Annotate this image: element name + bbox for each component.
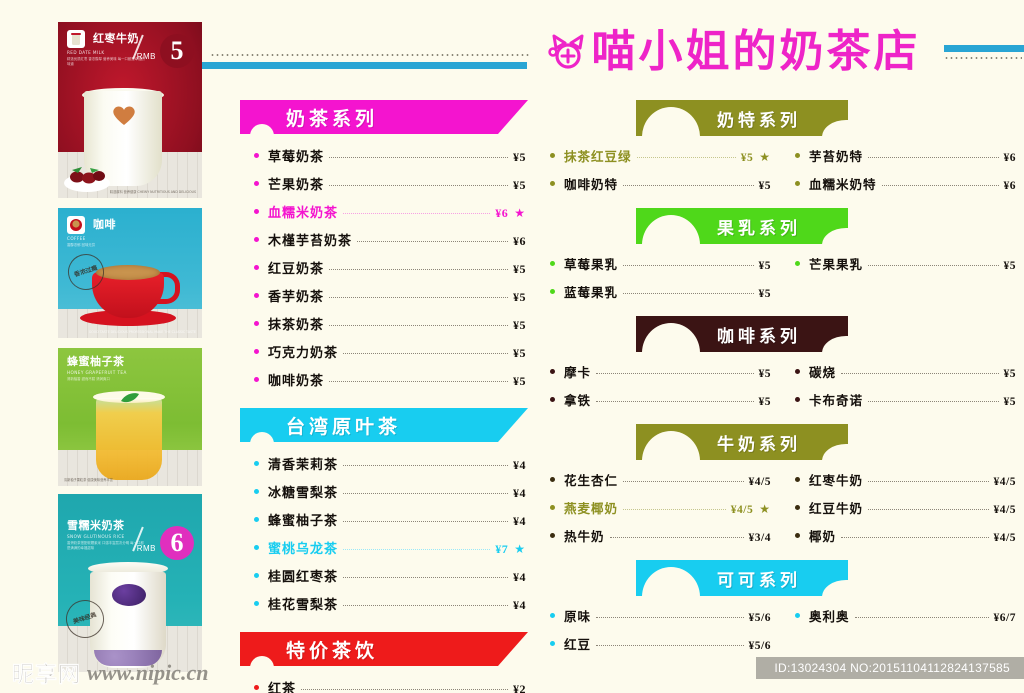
menu-item[interactable]: 巧克力奶茶¥5 (254, 342, 526, 361)
item-name: 椰奶 (809, 526, 836, 545)
item-name: 木槿芋苔奶茶 (268, 230, 352, 249)
section-title: 咖啡系列 (636, 316, 848, 352)
item-name: 燕麦椰奶 (564, 498, 618, 517)
watermark-url: www.nipic.cn (87, 660, 208, 686)
leader-dots (329, 297, 508, 298)
menu-item[interactable]: 红豆¥5/6 (550, 634, 771, 653)
menu-item[interactable]: 蜜桃乌龙茶¥7★ (254, 538, 526, 557)
section-title: 牛奶系列 (636, 424, 848, 460)
menu-section-cocoa: 可可系列 原味¥5/6 奥利奥¥6/7 红豆¥5/6 (548, 560, 1018, 664)
item-price: ¥4/5 (749, 476, 771, 488)
menu-column-right: 奶特系列 抹茶红豆绿¥5★ 芋苔奶特¥6 咖啡奶特¥5 血糯米奶特¥6 果乳系列… (548, 100, 1018, 668)
item-price: ¥4 (513, 486, 526, 501)
item-price: ¥5 (741, 152, 754, 164)
item-price: ¥5 (513, 178, 526, 193)
leader-dots (610, 537, 744, 538)
leader-dots (329, 185, 508, 186)
menu-item[interactable]: 血糯米奶特¥6 (795, 174, 1016, 193)
promo-name-en: SNOW GLUTINOUS RICE (67, 534, 147, 539)
item-price: ¥6 (495, 206, 508, 221)
bullet-icon (550, 153, 555, 158)
item-name: 咖啡奶特 (564, 174, 618, 193)
asset-id-bar: ID:13024304 NO:20151104112824137585 (756, 657, 1024, 679)
item-price: ¥4/5 (994, 476, 1016, 488)
menu-item[interactable]: 热牛奶¥3/4 (550, 526, 771, 545)
section-banner: 果乳系列 (636, 208, 848, 244)
section-items: 抹茶红豆绿¥5★ 芋苔奶特¥6 咖啡奶特¥5 血糯米奶特¥6 (548, 136, 1018, 204)
bullet-icon (254, 153, 259, 158)
menu-item[interactable]: 香芋奶茶¥5 (254, 286, 526, 305)
bullet-icon (795, 477, 800, 482)
menu-poster: 喵小姐的奶茶店 红枣牛奶 RED DATE MILK 精选优质红枣 香浓醇厚 营… (0, 0, 1024, 693)
menu-item[interactable]: 红茶¥2 (254, 678, 526, 693)
leader-dots (596, 617, 744, 618)
leader-dots (868, 265, 998, 266)
item-price: ¥6/7 (994, 612, 1016, 624)
bullet-icon (254, 321, 259, 326)
item-name: 拿铁 (564, 390, 591, 409)
section-items: 清香茉莉茶¥4 冰糖雪梨茶¥4 蜂蜜柚子茶¥4 蜜桃乌龙茶¥7★ 桂圆红枣茶¥4… (240, 444, 532, 626)
bullet-icon (795, 533, 800, 538)
menu-item[interactable]: 椰奶¥4/5 (795, 526, 1016, 545)
promo-price-badge: 5 (160, 34, 194, 68)
cup-body (96, 398, 162, 480)
item-price: ¥5 (1004, 368, 1017, 380)
leader-dots (868, 509, 989, 510)
leader-dots (343, 353, 508, 354)
boba-topping (112, 584, 146, 606)
section-items: 草莓果乳¥5 芒果果乳¥5 蓝莓果乳¥5 (548, 244, 1018, 312)
menu-item[interactable]: 清香茉莉茶¥4 (254, 454, 526, 473)
item-name: 芋苔奶特 (809, 146, 863, 165)
item-name: 摩卡 (564, 362, 591, 381)
bullet-icon (254, 601, 259, 606)
item-price: ¥5 (513, 346, 526, 361)
leader-dots (343, 549, 490, 550)
menu-item[interactable]: 咖啡奶茶¥5 (254, 370, 526, 389)
red-dates (68, 164, 108, 188)
bullet-icon (550, 533, 555, 538)
menu-item[interactable]: 蜂蜜柚子茶¥4 (254, 510, 526, 529)
bullet-icon (254, 209, 259, 214)
item-price: ¥4/5 (731, 504, 753, 516)
bullet-icon (550, 397, 555, 402)
leader-dots (623, 509, 726, 510)
bullet-icon (550, 261, 555, 266)
section-items: 摩卡¥5 碳烧¥5 拿铁¥5 卡布奇诺¥5 (548, 352, 1018, 420)
bullet-icon (254, 181, 259, 186)
bullet-icon (795, 613, 800, 618)
section-banner: 牛奶系列 (636, 424, 848, 460)
item-name: 芒果奶茶 (268, 174, 324, 193)
bullet-icon (254, 573, 259, 578)
promo-name-en: HONEY GRAPEFRUIT TEA (67, 370, 127, 375)
bullet-icon (550, 289, 555, 294)
menu-item[interactable]: 桂花雪梨茶¥4 (254, 594, 526, 613)
leader-dots (841, 373, 998, 374)
bullet-icon (254, 265, 259, 270)
promo-label: 蜂蜜柚子茶 HONEY GRAPEFRUIT TEA 清新柚香 甜而不腻 清润爽… (67, 356, 127, 382)
menu-item[interactable]: 抹茶红豆绿¥5★ (550, 146, 771, 165)
bullet-icon (550, 641, 555, 646)
bullet-icon (254, 545, 259, 550)
item-name: 血糯米奶特 (809, 174, 877, 193)
coffee-cup-badge-icon (67, 216, 85, 234)
leader-dots (343, 465, 508, 466)
menu-item[interactable]: 蓝莓果乳¥5 (550, 282, 771, 301)
bullet-icon (795, 153, 800, 158)
item-price: ¥4/5 (994, 504, 1016, 516)
leader-dots (329, 381, 508, 382)
star-icon: ★ (514, 206, 526, 220)
section-banner: 可可系列 (636, 560, 848, 596)
item-price: ¥4/5 (994, 532, 1016, 544)
bullet-icon (254, 377, 259, 382)
item-price: ¥5 (1004, 396, 1017, 408)
star-icon: ★ (514, 542, 526, 556)
menu-item[interactable]: 燕麦椰奶¥4/5★ (550, 498, 771, 517)
bullet-icon (254, 489, 259, 494)
site-watermark: 昵享网 www.nipic.cn (12, 657, 208, 689)
leader-dots (343, 605, 508, 606)
menu-column-left: 奶茶系列 草莓奶茶¥5 芒果奶茶¥5 血糯米奶茶¥6★ 木槿芋苔奶茶¥6 红豆奶… (240, 100, 532, 693)
section-banner: 特价茶饮 (240, 632, 528, 668)
item-name: 碳烧 (809, 362, 836, 381)
item-name: 桂花雪梨茶 (268, 594, 338, 613)
item-name: 红豆 (564, 634, 591, 653)
section-banner: 咖啡系列 (636, 316, 848, 352)
item-name: 芒果果乳 (809, 254, 863, 273)
promo-label: 咖啡 COFFEE 香醇浓郁 回味无穷 (67, 216, 116, 248)
menu-item[interactable]: 草莓果乳¥5 (550, 254, 771, 273)
menu-item[interactable]: 拿铁¥5 (550, 390, 771, 409)
leader-dots (343, 577, 508, 578)
bullet-icon (795, 181, 800, 186)
promo-card-coffee: 咖啡 COFFEE 香醇浓郁 回味无穷 香浓过瘾 GOOD TASTE DELI… (58, 208, 202, 338)
leader-dots (329, 325, 508, 326)
promo-description: 香醇浓郁 回味无穷 (67, 243, 116, 248)
menu-section-taiwan-tea: 台湾原叶茶 清香茉莉茶¥4 冰糖雪梨茶¥4 蜂蜜柚子茶¥4 蜜桃乌龙茶¥7★ 桂… (240, 408, 532, 626)
item-price: ¥6 (1004, 152, 1017, 164)
item-price: ¥5 (1004, 260, 1017, 272)
menu-item[interactable]: 原味¥5/6 (550, 606, 771, 625)
bullet-icon (795, 369, 800, 374)
item-price: ¥5 (513, 290, 526, 305)
section-banner: 奶茶系列 (240, 100, 528, 136)
item-name: 草莓奶茶 (268, 146, 324, 165)
menu-item[interactable]: 芒果奶茶¥5 (254, 174, 526, 193)
bullet-icon (550, 369, 555, 374)
bullet-icon (795, 261, 800, 266)
leader-dots (343, 213, 490, 214)
item-price: ¥5 (759, 260, 772, 272)
leader-dots (868, 157, 998, 158)
header-dotted-rule-left (210, 54, 530, 56)
cup-badge-icon (67, 30, 85, 48)
item-name: 热牛奶 (564, 526, 605, 545)
section-title: 台湾原叶茶 (286, 408, 401, 442)
promo-name-en: COFFEE (67, 236, 116, 241)
leader-dots (596, 401, 753, 402)
promo-card-red-date-milk: 红枣牛奶 RED DATE MILK 精选优质红枣 香浓醇厚 营养美味 每一口都… (58, 22, 202, 198)
section-title: 奶茶系列 (286, 100, 378, 134)
bullet-icon (550, 505, 555, 510)
section-title: 可可系列 (636, 560, 848, 596)
leader-dots (329, 157, 508, 158)
star-icon: ★ (759, 150, 771, 164)
item-name: 红枣牛奶 (809, 470, 863, 489)
promo-price-badge: 6 (160, 526, 194, 560)
item-price: ¥4 (513, 598, 526, 613)
promo-footnote: 精选原料 营养健康 CHEWY NUTRITIOUS AND DELICIOUS (110, 190, 196, 194)
item-name: 红豆牛奶 (809, 498, 863, 517)
bullet-icon (550, 181, 555, 186)
menu-item[interactable]: 咖啡奶特¥5 (550, 174, 771, 193)
item-name: 花生杏仁 (564, 470, 618, 489)
section-title: 特价茶饮 (286, 632, 378, 666)
section-banner: 奶特系列 (636, 100, 848, 136)
item-name: 原味 (564, 606, 591, 625)
item-name: 香芋奶茶 (268, 286, 324, 305)
promo-name: 雪糯米奶茶 (67, 520, 147, 532)
shop-title: 喵小姐的奶茶店 (534, 22, 934, 82)
promo-currency-label: RMB (137, 544, 156, 553)
mint-leaf-icon (120, 389, 140, 408)
promo-description: 精选优质红枣 香浓醇厚 营养美味 每一口都是幸福的味道 (67, 57, 147, 67)
item-price: ¥5 (759, 180, 772, 192)
leader-dots (841, 537, 989, 538)
menu-item[interactable]: 摩卡¥5 (550, 362, 771, 381)
menu-item[interactable]: 卡布奇诺¥5 (795, 390, 1016, 409)
bullet-icon (254, 349, 259, 354)
item-name: 清香茉莉茶 (268, 454, 338, 473)
menu-section-milk-tea: 奶茶系列 草莓奶茶¥5 芒果奶茶¥5 血糯米奶茶¥6★ 木槿芋苔奶茶¥6 红豆奶… (240, 100, 532, 402)
section-items: 草莓奶茶¥5 芒果奶茶¥5 血糯米奶茶¥6★ 木槿芋苔奶茶¥6 红豆奶茶¥5 香… (240, 136, 532, 402)
bullet-icon (795, 397, 800, 402)
menu-item[interactable]: 血糯米奶茶¥6★ (254, 202, 526, 221)
item-price: ¥7 (495, 542, 508, 557)
leader-dots (596, 645, 744, 646)
item-name: 桂圆红枣茶 (268, 566, 338, 585)
item-name: 奥利奥 (809, 606, 850, 625)
promo-currency-label: RMB (137, 52, 156, 61)
menu-item[interactable]: 桂圆红枣茶¥4 (254, 566, 526, 585)
watermark-site-name: 昵享网 (12, 657, 81, 689)
item-price: ¥5 (759, 368, 772, 380)
item-price: ¥2 (513, 682, 526, 693)
leader-dots (357, 241, 508, 242)
menu-item[interactable]: 花生杏仁¥4/5 (550, 470, 771, 489)
header-dotted-rule-right (944, 57, 1022, 59)
menu-item[interactable]: 木槿芋苔奶茶¥6 (254, 230, 526, 249)
star-icon: ★ (759, 502, 771, 516)
menu-item[interactable]: 抹茶奶茶¥5 (254, 314, 526, 333)
item-price: ¥5 (513, 318, 526, 333)
menu-section-milk: 牛奶系列 花生杏仁¥4/5 红枣牛奶¥4/5 燕麦椰奶¥4/5★ 红豆牛奶¥4/… (548, 424, 1018, 556)
header-accent-bar-right (944, 45, 1024, 52)
item-name: 蜜桃乌龙茶 (268, 538, 338, 557)
item-price: ¥5 (513, 374, 526, 389)
item-price: ¥6 (1004, 180, 1017, 192)
leader-dots (596, 373, 753, 374)
item-price: ¥5 (759, 288, 772, 300)
promo-card-honey-grapefruit-tea: 蜂蜜柚子茶 HONEY GRAPEFRUIT TEA 清新柚香 甜而不腻 清润爽… (58, 348, 202, 486)
leader-dots (623, 481, 744, 482)
menu-item[interactable]: 芋苔奶特¥6 (795, 146, 1016, 165)
leader-dots (637, 157, 736, 158)
section-items: 原味¥5/6 奥利奥¥6/7 红豆¥5/6 (548, 596, 1018, 664)
item-price: ¥4 (513, 570, 526, 585)
leader-dots (343, 493, 508, 494)
section-items: 红茶¥2 绿茶¥2 杭白菊¥2 (240, 668, 532, 693)
bullet-icon (254, 517, 259, 522)
bullet-icon (550, 613, 555, 618)
item-price: ¥3/4 (749, 532, 771, 544)
leader-dots (855, 617, 989, 618)
promo-name: 蜂蜜柚子茶 (67, 356, 127, 368)
menu-item[interactable]: 芒果果乳¥5 (795, 254, 1016, 273)
leader-dots (623, 265, 753, 266)
item-price: ¥5 (513, 150, 526, 165)
section-items: 花生杏仁¥4/5 红枣牛奶¥4/5 燕麦椰奶¥4/5★ 红豆牛奶¥4/5 热牛奶… (548, 460, 1018, 556)
item-price: ¥4 (513, 514, 526, 529)
item-name: 蓝莓果乳 (564, 282, 618, 301)
cat-face-icon (548, 32, 588, 72)
promo-name: 咖啡 (93, 219, 116, 231)
leader-dots (623, 293, 753, 294)
item-name: 草莓果乳 (564, 254, 618, 273)
bullet-icon (254, 293, 259, 298)
banner-shape (240, 632, 528, 668)
bullet-icon (254, 685, 259, 690)
section-banner: 台湾原叶茶 (240, 408, 528, 444)
banner-shape (240, 100, 528, 136)
leader-dots (868, 481, 989, 482)
item-name: 血糯米奶茶 (268, 202, 338, 221)
item-name: 红豆奶茶 (268, 258, 324, 277)
header-accent-bar-left (195, 62, 527, 69)
latte-art (96, 265, 160, 280)
heart-topping-icon (110, 104, 138, 126)
menu-section-fruit-milk: 果乳系列 草莓果乳¥5 芒果果乳¥5 蓝莓果乳¥5 (548, 208, 1018, 312)
item-name: 抹茶红豆绿 (564, 146, 632, 165)
menu-section-special-price: 特价茶饮 红茶¥2 绿茶¥2 杭白菊¥2 (240, 632, 532, 693)
leader-dots (868, 401, 998, 402)
item-name: 卡布奇诺 (809, 390, 863, 409)
bullet-icon (254, 237, 259, 242)
section-title: 果乳系列 (636, 208, 848, 244)
menu-item[interactable]: 草莓奶茶¥5 (254, 146, 526, 165)
bullet-icon (254, 461, 259, 466)
menu-item[interactable]: 碳烧¥5 (795, 362, 1016, 381)
leader-dots (301, 689, 508, 690)
promo-card-snow-glutinous-rice-milk-tea: 雪糯米奶茶 SNOW GLUTINOUS RICE 香滑奶茶搭配软糯紫米 口感丰… (58, 494, 202, 672)
item-name: 蜂蜜柚子茶 (268, 510, 338, 529)
menu-item[interactable]: 红豆奶茶¥5 (254, 258, 526, 277)
menu-section-milk-special: 奶特系列 抹茶红豆绿¥5★ 芋苔奶特¥6 咖啡奶特¥5 血糯米奶特¥6 (548, 100, 1018, 204)
section-title: 奶特系列 (636, 100, 848, 136)
leader-dots (623, 185, 753, 186)
menu-item[interactable]: 奥利奥¥6/7 (795, 606, 1016, 625)
leader-dots (343, 521, 508, 522)
item-price: ¥5/6 (749, 640, 771, 652)
bullet-icon (795, 505, 800, 510)
item-name: 咖啡奶茶 (268, 370, 324, 389)
leader-dots (882, 185, 999, 186)
item-name: 抹茶奶茶 (268, 314, 324, 333)
item-name: 冰糖雪梨茶 (268, 482, 338, 501)
menu-item[interactable]: 红枣牛奶¥4/5 (795, 470, 1016, 489)
promo-name: 红枣牛奶 (93, 33, 139, 45)
promo-footnote: 清新柚子果粒茶 健康美味营养丰富 (64, 478, 113, 482)
menu-item[interactable]: 冰糖雪梨茶¥4 (254, 482, 526, 501)
menu-section-coffee: 咖啡系列 摩卡¥5 碳烧¥5 拿铁¥5 卡布奇诺¥5 (548, 316, 1018, 420)
item-price: ¥5/6 (749, 612, 771, 624)
menu-item[interactable]: 红豆牛奶¥4/5 (795, 498, 1016, 517)
promo-footnote: GOOD TASTE DELICIOUS PROFESSIONAL MAKE T… (89, 330, 196, 334)
promo-description: 清新柚香 甜而不腻 清润爽口 (67, 377, 127, 382)
item-price: ¥5 (513, 262, 526, 277)
leader-dots (329, 269, 508, 270)
item-name: 红茶 (268, 678, 296, 693)
bullet-icon (550, 477, 555, 482)
item-price: ¥4 (513, 458, 526, 473)
item-name: 巧克力奶茶 (268, 342, 338, 361)
shop-title-text: 喵小姐的奶茶店 (592, 30, 921, 74)
item-price: ¥6 (513, 234, 526, 249)
item-price: ¥5 (759, 396, 772, 408)
